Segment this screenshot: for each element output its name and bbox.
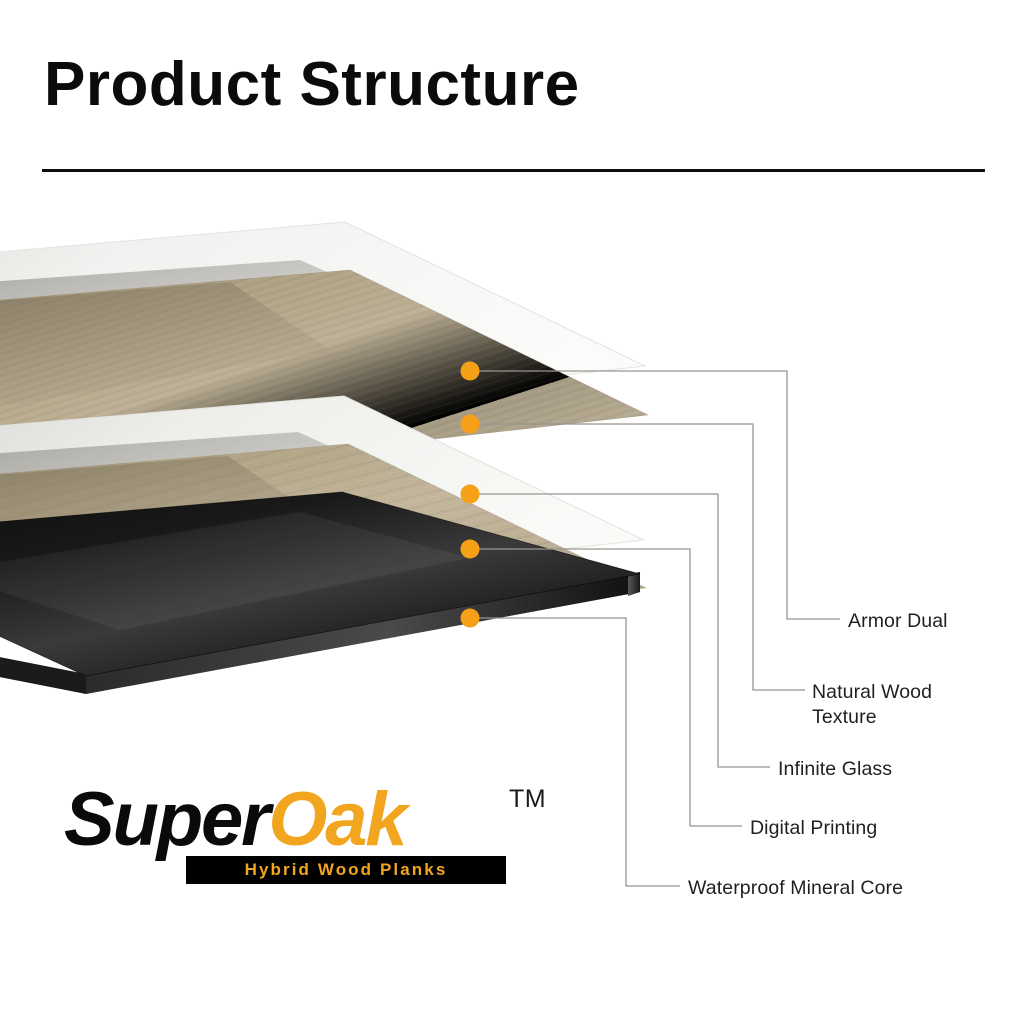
callout-label-infinite-glass: Infinite Glass	[778, 757, 892, 782]
logo-word-oak: Oak	[268, 777, 405, 862]
page-title: Product Structure	[44, 52, 580, 117]
brand-logo: SuperOak TM Hybrid Wood Planks	[64, 782, 564, 892]
logo-tagline-bar: Hybrid Wood Planks	[186, 856, 506, 884]
callout-label-waterproof-mineral-core: Waterproof Mineral Core	[688, 876, 903, 901]
title-divider	[42, 169, 985, 172]
callout-label-digital-printing: Digital Printing	[750, 816, 877, 841]
logo-word-super: Super	[64, 777, 268, 862]
callout-label-armor-dual: Armor Dual	[848, 609, 948, 634]
trademark-symbol: TM	[509, 785, 546, 814]
logo-wordmark: SuperOak	[64, 782, 405, 858]
callout-label-natural-wood-texture: Natural Wood Texture	[812, 680, 932, 730]
exploded-layer-stack	[0, 200, 1024, 720]
product-structure-diagram	[0, 200, 1024, 720]
logo-tagline-text: Hybrid Wood Planks	[245, 860, 448, 880]
